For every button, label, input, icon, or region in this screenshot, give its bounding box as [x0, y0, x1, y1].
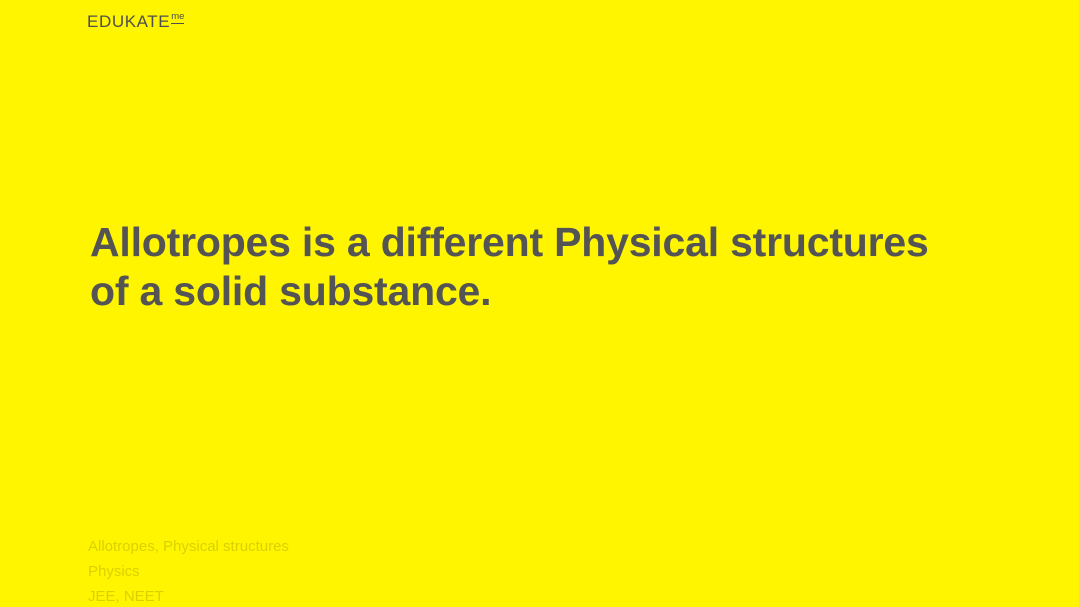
brand-logo-superscript: me	[171, 12, 184, 24]
slide-metadata: Allotropes, Physical structures Physics …	[88, 534, 289, 607]
page-title: Allotropes is a different Physical struc…	[90, 218, 990, 316]
metadata-keywords: Allotropes, Physical structures	[88, 534, 289, 559]
metadata-subject: Physics	[88, 559, 289, 584]
brand-logo-name: EDUKATE	[87, 12, 170, 31]
metadata-exams: JEE, NEET	[88, 584, 289, 607]
corner-watermark: .....	[1054, 600, 1073, 607]
slide-canvas: EDUKATEme Allotropes is a different Phys…	[0, 0, 1079, 607]
brand-logo[interactable]: EDUKATEme	[87, 13, 184, 30]
page-title-line-2: of a solid substance.	[90, 267, 990, 316]
page-title-line-1: Allotropes is a different Physical struc…	[90, 218, 990, 267]
